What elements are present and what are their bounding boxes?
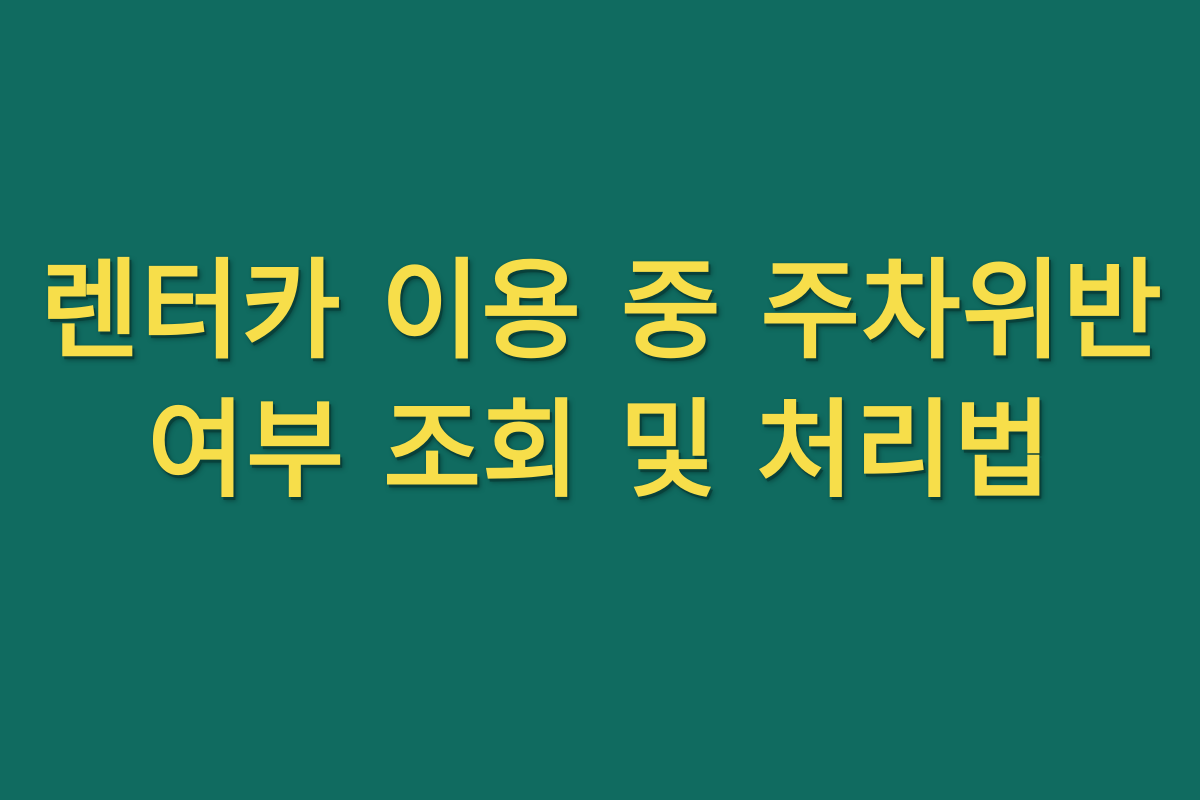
thumbnail-canvas: 렌터카 이용 중 주차위반 여부 조회 및 처리법 xyxy=(0,0,1200,800)
headline-block: 렌터카 이용 중 주차위반 여부 조회 및 처리법 xyxy=(40,242,1160,520)
headline-line-1: 렌터카 이용 중 주차위반 xyxy=(40,242,1160,382)
headline-line-2: 여부 조회 및 처리법 xyxy=(40,382,1160,520)
